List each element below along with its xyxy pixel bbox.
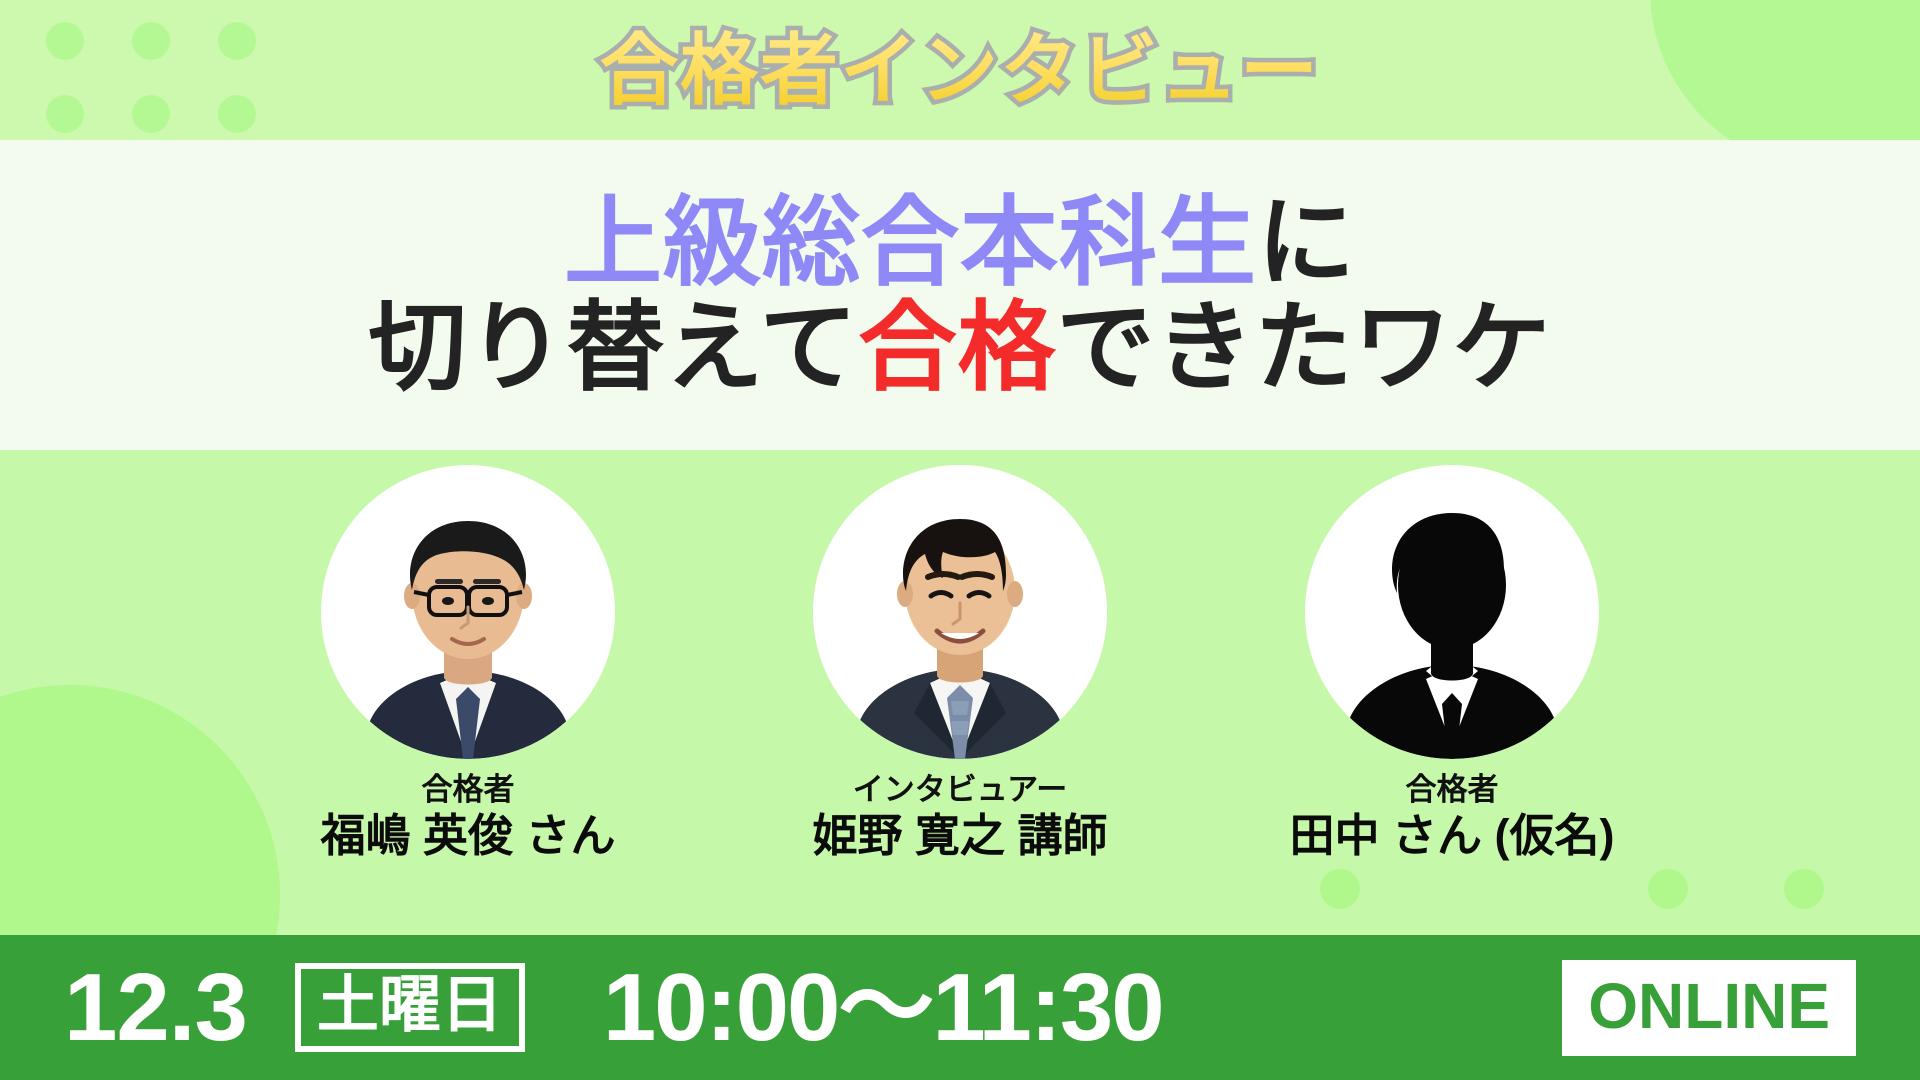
person-name: 姫野 寛之 講師: [812, 811, 1107, 861]
silhouette-anonymous-icon: [1305, 465, 1599, 759]
header-title: 合格者インタビュー: [0, 0, 1920, 140]
headline-line-1-suffix: に: [1257, 187, 1356, 297]
avatar: [813, 465, 1107, 759]
photo-man-glasses-icon: [321, 465, 615, 759]
footer-band: 12.3 土曜日 10:00〜11:30 ONLINE: [0, 935, 1920, 1080]
event-time: 10:00〜11:30: [603, 960, 1163, 1056]
headline-line-2-suffix: できたワケ: [1057, 292, 1552, 402]
webinar-promo-banner: 合格者インタビュー 合格者インタビュー 上級総合本科生に 切り替えて合格できたワ…: [0, 0, 1920, 1080]
person-name: 田中 さん (仮名): [1290, 811, 1615, 861]
person-role: 合格者: [422, 773, 515, 807]
header-band: 合格者インタビュー 合格者インタビュー: [0, 0, 1920, 140]
person-card: 合格者 福嶋 英俊 さん: [288, 465, 648, 861]
headline-band: 上級総合本科生に 切り替えて合格できたワケ: [0, 140, 1920, 450]
person-card: インタビュアー 姫野 寛之 講師: [780, 465, 1140, 861]
avatar: [1305, 465, 1599, 759]
headline-line-1: 上級総合本科生に: [564, 191, 1356, 294]
person-role: インタビュアー: [853, 773, 1068, 807]
event-date: 12.3: [64, 960, 247, 1056]
event-format-badge: ONLINE: [1562, 960, 1856, 1056]
photo-man-suit-icon: [813, 465, 1107, 759]
people-band: 合格者 福嶋 英俊 さん: [0, 450, 1920, 935]
person-card: 合格者 田中 さん (仮名): [1272, 465, 1632, 861]
person-role: 合格者: [1406, 773, 1499, 807]
avatar: [321, 465, 615, 759]
people-row: 合格者 福嶋 英俊 さん: [0, 450, 1920, 935]
person-name: 福嶋 英俊 さん: [320, 811, 615, 861]
headline-line-2-prefix: 切り替えて: [368, 292, 858, 402]
headline-course-name: 上級総合本科生: [564, 187, 1257, 297]
event-day-of-week: 土曜日: [295, 963, 525, 1052]
headline-pass-emphasis: 合格: [859, 292, 1057, 402]
headline-line-2: 切り替えて合格できたワケ: [368, 296, 1551, 399]
